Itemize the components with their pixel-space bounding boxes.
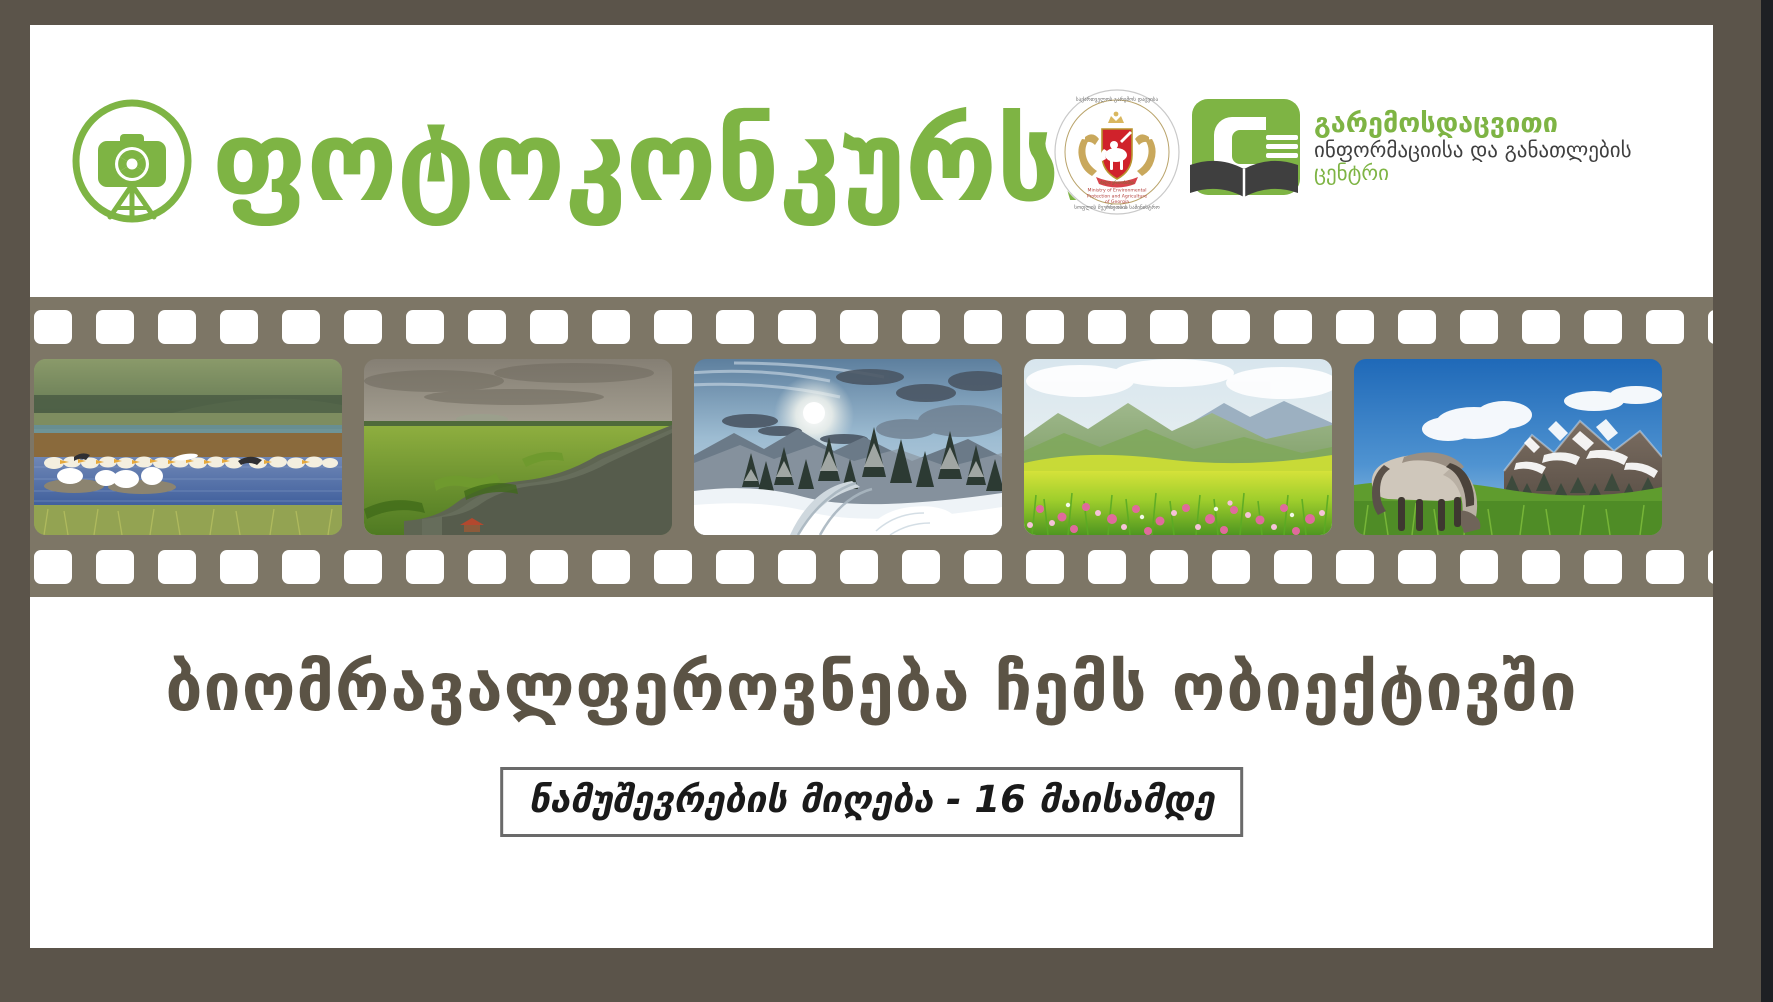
perforation (1336, 550, 1374, 584)
perforation (282, 550, 320, 584)
perforation (96, 310, 134, 344)
perforation (654, 550, 692, 584)
camera-on-tripod-in-circle-icon (68, 97, 196, 225)
perforation (902, 550, 940, 584)
perforation (840, 550, 878, 584)
perforation (1088, 310, 1126, 344)
svg-text:Protection and Agriculture: Protection and Agriculture (1087, 194, 1147, 200)
eiec-logo-wordmark: გარემოსდაცვითი ინფორმაციისა და განათლები… (1314, 110, 1632, 184)
perforation (530, 310, 568, 344)
perforation (1584, 310, 1622, 344)
perforation (1584, 550, 1622, 584)
filmstrip (30, 297, 1713, 597)
perforation (344, 550, 382, 584)
svg-text:of Georgia: of Georgia (1105, 199, 1129, 205)
eiec-line-1: გარემოსდაცვითი (1314, 110, 1632, 137)
perforation (1522, 310, 1560, 344)
deadline-badge: ნამუშევრების მიღება - 16 მაისამდე (500, 767, 1244, 837)
perforation (406, 310, 444, 344)
perforation (1708, 550, 1713, 584)
perforation (1522, 550, 1560, 584)
perforation (964, 310, 1002, 344)
page-title: ფოტოკონკურსი (212, 87, 1121, 237)
perforation (902, 310, 940, 344)
poster-card: ფოტოკონკურსი საქართველოს გარემოს დაცვისა… (30, 25, 1713, 948)
perforation (1212, 550, 1250, 584)
svg-text:mepa.gov.ge: mepa.gov.ge (1106, 206, 1128, 210)
perforation (406, 550, 444, 584)
perforation (220, 310, 258, 344)
poster-root: ფოტოკონკურსი საქართველოს გარემოს დაცვისა… (0, 0, 1773, 1002)
perforation (778, 310, 816, 344)
photo-frame-wetland-river-meadow[interactable] (364, 359, 672, 535)
deadline-text: ნამუშევრების მიღება - 16 მაისამდე (529, 779, 1215, 822)
perforation (716, 310, 754, 344)
perforation (468, 310, 506, 344)
perforation (1150, 310, 1188, 344)
eiec-logo: გარემოსდაცვითი ინფორმაციისა და განათლები… (1188, 87, 1628, 207)
svg-text:Ministry of Environmental: Ministry of Environmental (1087, 188, 1146, 194)
perforation (282, 310, 320, 344)
svg-text:საქართველოს გარემოს დაცვისა: საქართველოს გარემოს დაცვისა (1076, 96, 1159, 103)
filmstrip-perforations-bottom (30, 549, 1713, 585)
perforation (964, 550, 1002, 584)
poster-footer: ბიომრავალფეროვნება ჩემს ობიექტივში ნამუშ… (30, 597, 1713, 948)
perforation (158, 550, 196, 584)
filmstrip-frames (30, 359, 1713, 535)
perforation (34, 310, 72, 344)
perforation (1646, 550, 1684, 584)
filmstrip-perforations-top (30, 309, 1713, 345)
perforation (840, 310, 878, 344)
perforation (1150, 550, 1188, 584)
perforation (1646, 310, 1684, 344)
perforation (1088, 550, 1126, 584)
perforation (654, 310, 692, 344)
perforation (220, 550, 258, 584)
perforation (530, 550, 568, 584)
perforation (1026, 310, 1064, 344)
perforation (1460, 310, 1498, 344)
perforation (1336, 310, 1374, 344)
photo-frame-pelicans-on-lake[interactable] (34, 359, 342, 535)
perforation (1398, 310, 1436, 344)
perforation (778, 550, 816, 584)
perforation (1274, 310, 1312, 344)
perforation (96, 550, 134, 584)
perforation (1708, 310, 1713, 344)
perforation (1026, 550, 1064, 584)
photo-frame-snowy-mountain-road[interactable] (694, 359, 1002, 535)
perforation (1398, 550, 1436, 584)
perforation (716, 550, 754, 584)
perforation (1212, 310, 1250, 344)
perforation (1274, 550, 1312, 584)
perforation (592, 310, 630, 344)
photo-frame-horse-grazing-snowy-mountains[interactable] (1354, 359, 1662, 535)
perforation (344, 310, 382, 344)
eiec-line-2: ინფორმაციისა და განათლების (1314, 140, 1632, 161)
open-book-leaf-mark-icon (1188, 91, 1304, 203)
svg-text:ძალა ერთობაშია: ძალა ერთობაშია (1100, 180, 1134, 185)
perforation (158, 310, 196, 344)
perforation (592, 550, 630, 584)
campaign-headline: ბიომრავალფეროვნება ჩემს ობიექტივში (30, 655, 1713, 721)
perforation (1460, 550, 1498, 584)
georgia-ministry-seal-icon: საქართველოს გარემოს დაცვისა სოფლის მეურნ… (1052, 87, 1182, 217)
photo-frame-alpine-flower-meadow[interactable] (1024, 359, 1332, 535)
perforation (468, 550, 506, 584)
eiec-line-3: ცენტრი (1314, 163, 1632, 184)
perforation (34, 550, 72, 584)
poster-header: ფოტოკონკურსი საქართველოს გარემოს დაცვისა… (30, 25, 1713, 297)
